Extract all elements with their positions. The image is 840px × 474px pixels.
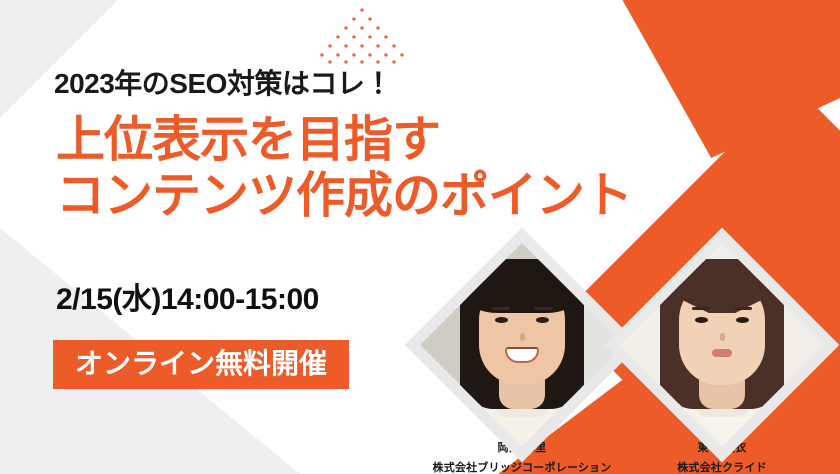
speaker-photo-frame (439, 262, 605, 428)
kicker-text: 2023年のSEO対策はコレ！ (54, 62, 392, 102)
speaker-photo-frame (639, 262, 805, 428)
headline-line-2: コンテンツ作成のポイント (56, 168, 632, 224)
speaker-photo-okada (420, 243, 624, 447)
speaker-card: 東 愛央衣 株式会社クライド (622, 262, 822, 474)
webinar-banner: 2023年のSEO対策はコレ！ 上位表示を目指す コンテンツ作成のポイント 2/… (0, 0, 840, 474)
online-free-event-badge[interactable]: オンライン無料開催 (53, 340, 349, 389)
headline-line-1: 上位表示を目指す (56, 113, 440, 167)
event-datetime: 2/15(水)14:00-15:00 (56, 274, 319, 318)
page-title: 上位表示を目指す コンテンツ作成のポイント (56, 112, 632, 224)
speaker-photo-azuma (620, 243, 824, 447)
speaker-card: 岡田 海里 株式会社ブリッジコーポレーション (422, 262, 622, 474)
